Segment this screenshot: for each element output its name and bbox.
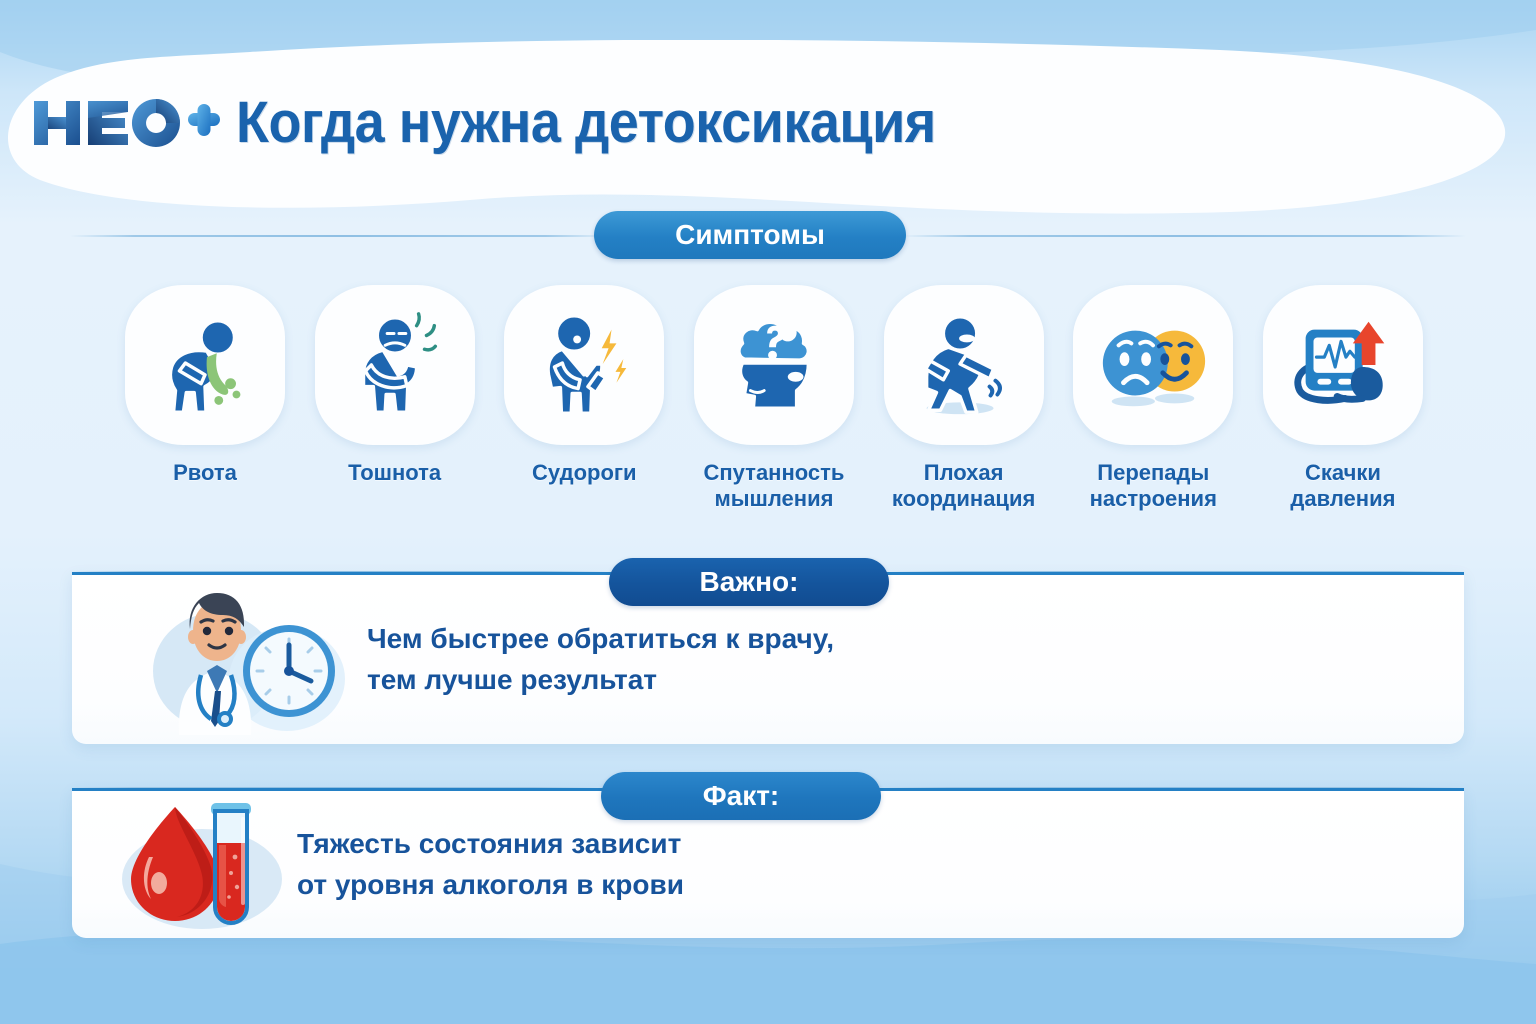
symptoms-grid: Рвота Тошнота xyxy=(120,285,1428,535)
symptom-item-confusion[interactable]: Спутанность мышления xyxy=(689,285,859,535)
symptom-card xyxy=(1073,285,1233,445)
divider-symptoms-left xyxy=(70,235,610,237)
page-title: Когда нужна детоксикация xyxy=(236,89,936,156)
symptom-card xyxy=(1263,285,1423,445)
symptom-card xyxy=(884,285,1044,445)
symptom-label: Спутанность мышления xyxy=(689,460,859,512)
symptom-label: Рвота xyxy=(173,460,237,486)
symptom-label: Скачки давления xyxy=(1258,460,1428,512)
fact-text-line2: от уровня алкоголя в крови xyxy=(297,865,684,906)
symptom-label: Плохая координация xyxy=(879,460,1049,512)
symptom-card xyxy=(504,285,664,445)
symptom-item-blood-pressure[interactable]: Скачки давления xyxy=(1258,285,1428,535)
symptom-label-line2: давления xyxy=(1290,486,1395,511)
important-text: Чем быстрее обратиться к врачу, тем лучш… xyxy=(367,619,834,700)
fact-text-line1: Тяжесть состояния зависит xyxy=(297,824,684,865)
symptom-label: Тошнота xyxy=(348,460,441,486)
fact-text: Тяжесть состояния зависит от уровня алко… xyxy=(297,824,684,905)
doctor-with-clock-illustration xyxy=(137,585,367,735)
nausea-icon xyxy=(336,306,454,424)
symptom-label-line2: настроения xyxy=(1090,486,1217,511)
symptom-item-coordination[interactable]: Плохая координация xyxy=(879,285,1049,535)
divider-symptoms-right xyxy=(902,235,1466,237)
neo-plus-logo xyxy=(30,95,222,151)
symptom-card xyxy=(125,285,285,445)
mood-swings-icon xyxy=(1094,306,1212,424)
symptom-item-seizure[interactable]: Судороги xyxy=(499,285,669,535)
vomiting-icon xyxy=(146,306,264,424)
symptom-label-line2: координация xyxy=(892,486,1035,511)
page-header: Когда нужна детоксикация xyxy=(0,80,1536,165)
symptom-label-line2: мышления xyxy=(714,486,833,511)
symptom-item-nausea[interactable]: Тошнота xyxy=(310,285,480,535)
section-badge-important: Важно: xyxy=(609,558,889,606)
blood-drop-test-tube-illustration xyxy=(107,795,297,935)
symptom-label-line1: Плохая xyxy=(924,460,1004,485)
symptom-card xyxy=(315,285,475,445)
symptom-label-line1: Перепады xyxy=(1097,460,1209,485)
symptom-label: Судороги xyxy=(532,460,637,486)
symptom-item-vomiting[interactable]: Рвота xyxy=(120,285,290,535)
symptom-card xyxy=(694,285,854,445)
symptom-label-line1: Скачки xyxy=(1305,460,1381,485)
section-badge-symptoms: Симптомы xyxy=(594,211,906,259)
important-text-line2: тем лучше результат xyxy=(367,660,834,701)
symptom-label-line1: Спутанность xyxy=(703,460,844,485)
seizure-icon xyxy=(525,306,643,424)
confusion-icon xyxy=(715,306,833,424)
important-text-line1: Чем быстрее обратиться к врачу, xyxy=(367,619,834,660)
coordination-icon xyxy=(905,306,1023,424)
section-badge-fact: Факт: xyxy=(601,772,881,820)
symptom-item-mood-swings[interactable]: Перепады настроения xyxy=(1068,285,1238,535)
symptom-label: Перепады настроения xyxy=(1068,460,1238,512)
blood-pressure-icon xyxy=(1284,306,1402,424)
